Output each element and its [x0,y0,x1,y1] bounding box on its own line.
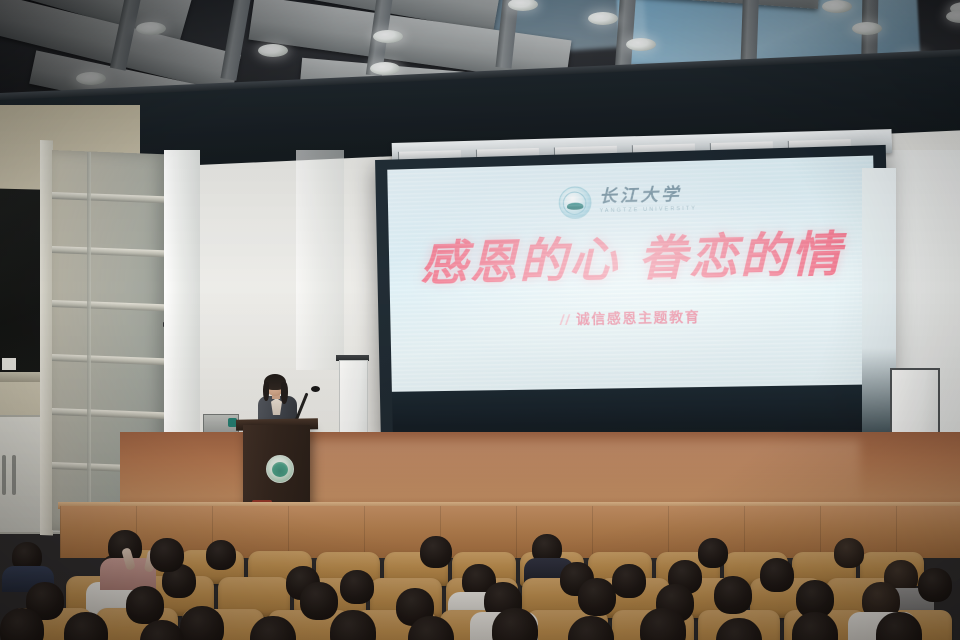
slide-subtitle-mark: // [560,312,571,327]
slide-subtitle-text: 诚信感恩主题教育 [576,310,701,328]
auditorium-photo: 长江大学 YANGTZE UNIVERSITY 感恩的心 眷恋的情 //诚信感恩… [0,0,960,640]
podium-university-seal-icon [266,455,294,483]
speaker-hair-right [281,382,288,404]
university-seal-icon [558,186,591,219]
led-display-frame: 长江大学 YANGTZE UNIVERSITY 感恩的心 眷恋的情 //诚信感恩… [375,145,892,442]
door-handle-icon[interactable] [12,455,16,495]
column-mullion [87,152,91,530]
presentation-screen: 长江大学 YANGTZE UNIVERSITY 感恩的心 眷恋的情 //诚信感恩… [387,156,878,392]
slide-logo-row: 长江大学 YANGTZE UNIVERSITY [388,178,875,223]
university-name-cn: 长江大学 [599,187,697,207]
screen-lower-bezel [392,384,879,435]
microphone-capsule-icon [311,386,320,392]
slide-title: 感恩的心 眷恋的情 [389,230,876,289]
stage-floor-reflection [300,440,860,510]
speaker-hair-left [263,382,269,401]
chalk-piece [2,358,16,370]
door-handle-icon[interactable] [2,455,6,495]
university-name-en: YANGTZE UNIVERSITY [600,207,698,215]
wall-pilaster [296,150,344,370]
seated-audience [0,520,960,640]
slide-subtitle-row: //诚信感恩主题教育 [390,302,877,332]
